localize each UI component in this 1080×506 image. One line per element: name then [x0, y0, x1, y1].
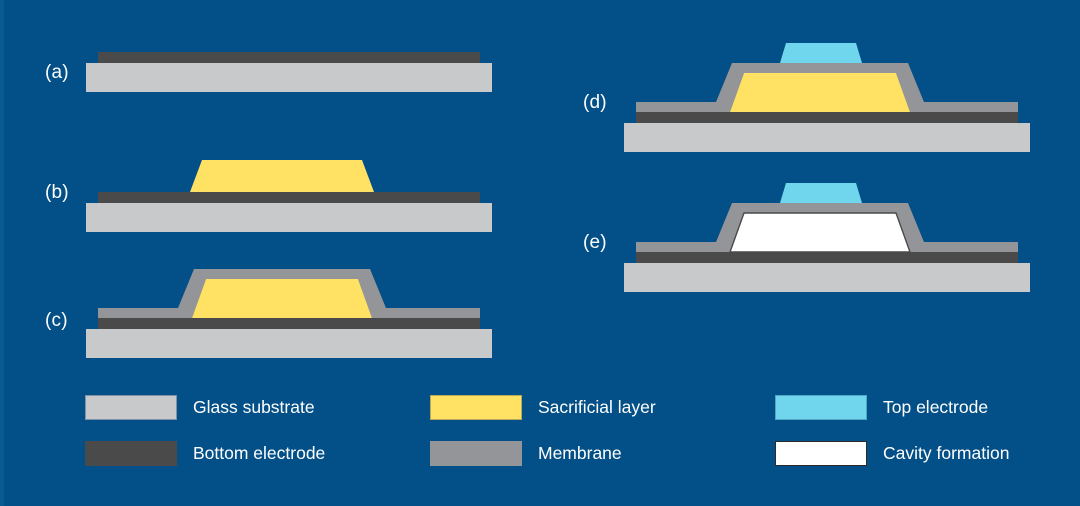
layer-top-electrode [780, 43, 862, 63]
legend-swatch-glass-substrate [85, 395, 177, 420]
legend-column-1: Glass substrate Bottom electrode [85, 390, 415, 470]
layer-glass-substrate [86, 203, 492, 232]
cross-section-b [80, 140, 500, 220]
panel-label-a: (a) [45, 62, 69, 84]
legend-swatch-top-electrode [775, 395, 867, 420]
legend-swatch-sacrificial-layer [430, 395, 522, 420]
legend-swatch-cavity-formation [775, 441, 867, 466]
layer-glass-substrate [86, 329, 492, 358]
process-step-e: (e) [560, 170, 1080, 280]
layer-glass-substrate [86, 63, 492, 92]
legend-label-top-electrode: Top electrode [883, 397, 988, 418]
legend-item-top-electrode: Top electrode [775, 394, 988, 420]
process-step-d: (d) [560, 30, 1080, 140]
legend-column-3: Top electrode Cavity formation [775, 390, 1080, 470]
layer-bottom-electrode [636, 112, 1018, 123]
layer-sacrificial [190, 160, 374, 192]
legend-label-membrane: Membrane [538, 443, 622, 464]
cross-section-c [80, 260, 500, 345]
layer-bottom-electrode [636, 252, 1018, 263]
legend-column-2: Sacrificial layer Membrane [430, 390, 760, 470]
legend: Glass substrate Bottom electrode Sacrifi… [85, 390, 1045, 470]
panel-label-d: (d) [583, 92, 607, 114]
process-step-a: (a) [0, 0, 520, 110]
cross-section-a [80, 40, 500, 110]
legend-item-bottom-electrode: Bottom electrode [85, 440, 325, 466]
legend-label-glass-substrate: Glass substrate [193, 397, 315, 418]
legend-item-sacrificial-layer: Sacrificial layer [430, 394, 656, 420]
layer-sacrificial [730, 73, 910, 112]
process-step-b: (b) [0, 130, 520, 240]
legend-label-bottom-electrode: Bottom electrode [193, 443, 325, 464]
cross-section-e [618, 175, 1038, 270]
cross-section-d [618, 35, 1038, 130]
legend-item-membrane: Membrane [430, 440, 622, 466]
layer-cavity [730, 213, 910, 252]
layer-glass-substrate [624, 123, 1030, 152]
layer-bottom-electrode [98, 318, 480, 329]
legend-swatch-membrane [430, 441, 522, 466]
legend-label-cavity-formation: Cavity formation [883, 443, 1009, 464]
layer-top-electrode [780, 183, 862, 203]
panel-label-e: (e) [583, 232, 607, 254]
panel-label-c: (c) [45, 310, 68, 332]
panel-label-b: (b) [45, 182, 69, 204]
layer-glass-substrate [624, 263, 1030, 292]
process-step-c: (c) [0, 250, 520, 360]
legend-label-sacrificial-layer: Sacrificial layer [538, 397, 656, 418]
layer-bottom-electrode [98, 192, 480, 203]
legend-item-glass-substrate: Glass substrate [85, 394, 315, 420]
layer-sacrificial [192, 279, 372, 318]
legend-item-cavity-formation: Cavity formation [775, 440, 1009, 466]
figure-canvas: (a) (b) (c) [0, 0, 1080, 506]
layer-bottom-electrode [98, 52, 480, 63]
legend-swatch-bottom-electrode [85, 441, 177, 466]
